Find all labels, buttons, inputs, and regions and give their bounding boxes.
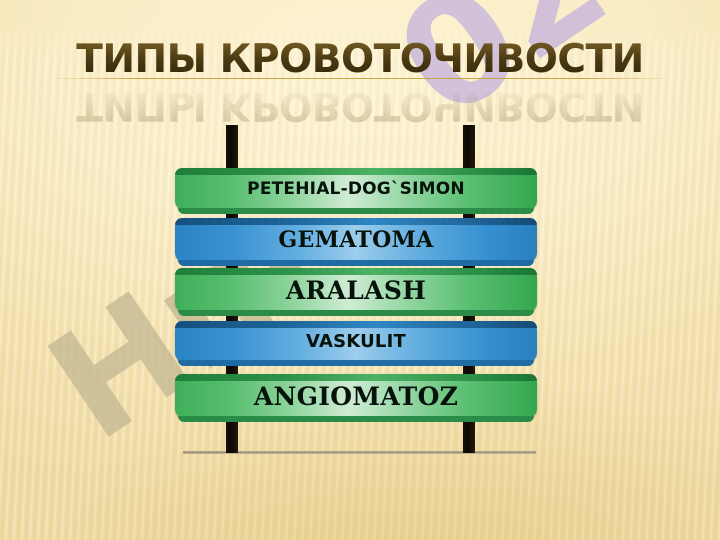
bar-under-lip xyxy=(178,416,534,422)
diagram-bar-petehial[interactable]: PETEHIAL-DOG`SIMON xyxy=(175,168,537,210)
diagram-bar-label: ANGIOMATOZ xyxy=(254,382,458,411)
diagram-bar-vaskulit[interactable]: VASKULIT xyxy=(175,321,537,362)
bar-under-lip xyxy=(178,310,534,316)
bar-top-bevel xyxy=(175,374,537,381)
bar-top-bevel xyxy=(175,168,537,175)
fence-post-left-top xyxy=(226,125,238,173)
fence-post-right-top xyxy=(463,125,475,173)
bar-top-bevel xyxy=(175,218,537,225)
title-block: Типы кровоточивости Типы кровоточивости xyxy=(0,38,720,127)
slide-canvas: 024 Hm Типы кровоточивости Типы кровоточ… xyxy=(0,0,720,540)
diagram-bar-label: PETEHIAL-DOG`SIMON xyxy=(247,179,465,199)
title-divider-rule xyxy=(48,78,672,79)
diagram-bar-gematoma[interactable]: GEMATOMA xyxy=(175,218,537,262)
bar-top-bevel xyxy=(175,268,537,275)
diagram-bar-aralash[interactable]: ARALASH xyxy=(175,268,537,312)
bar-under-lip xyxy=(178,208,534,214)
bar-under-lip xyxy=(178,360,534,366)
diagram-bar-angiomatoz[interactable]: ANGIOMATOZ xyxy=(175,374,537,418)
page-title: Типы кровоточивости xyxy=(0,38,720,82)
page-title-reflection: Типы кровоточивости xyxy=(0,83,720,127)
bar-under-lip xyxy=(178,260,534,266)
diagram-bar-label: ARALASH xyxy=(286,276,426,305)
diagram-bar-label: VASKULIT xyxy=(306,331,406,352)
diagram-bar-label: GEMATOMA xyxy=(278,227,433,253)
bar-top-bevel xyxy=(175,321,537,328)
